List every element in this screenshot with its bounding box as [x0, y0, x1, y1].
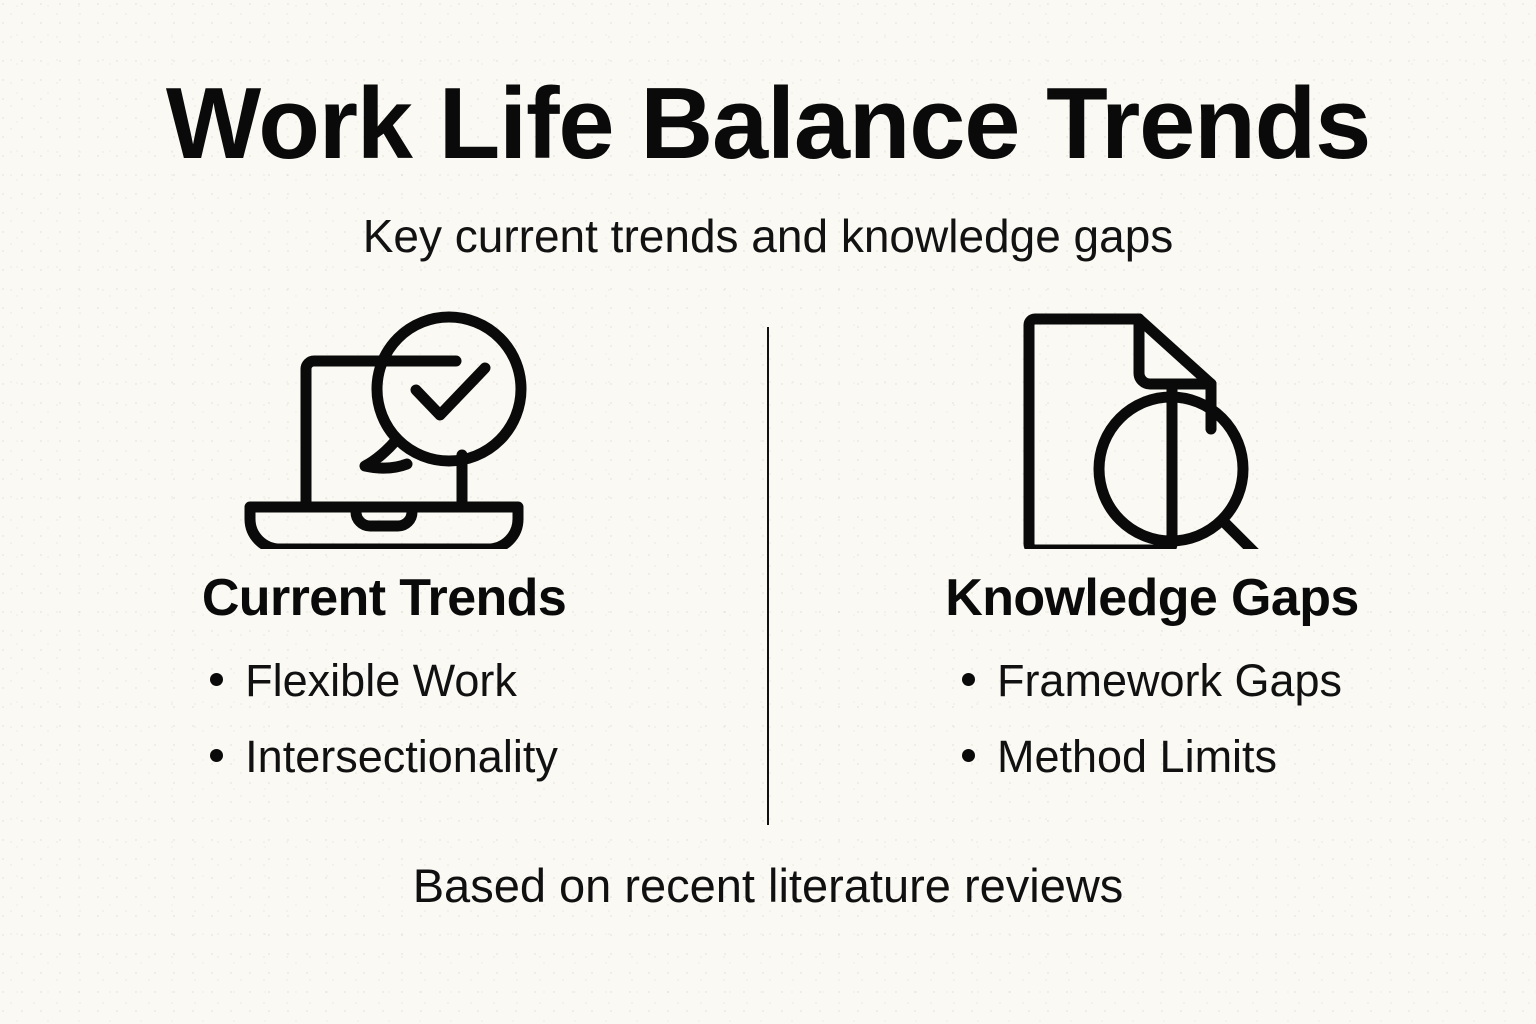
poster-footer: Based on recent literature reviews [0, 862, 1536, 909]
page-subtitle: Key current trends and knowledge gaps [0, 175, 1536, 259]
column-knowledge-gaps: Knowledge Gaps Framework Gaps Method Lim… [768, 310, 1536, 840]
bullet-dot-icon [210, 673, 223, 686]
column-divider [767, 327, 769, 825]
bullet-dot-icon [962, 749, 975, 762]
column-heading-current-trends: Current Trends [202, 550, 566, 624]
list-item-label: Intersectionality [245, 734, 558, 779]
bullet-list-current-trends: Flexible Work Intersectionality [210, 624, 558, 779]
bullet-dot-icon [210, 749, 223, 762]
list-item-label: Framework Gaps [997, 658, 1342, 703]
list-item-label: Method Limits [997, 734, 1277, 779]
document-magnifier-icon [1021, 310, 1283, 550]
list-item: Flexible Work [210, 658, 558, 734]
list-item: Framework Gaps [962, 658, 1342, 734]
list-item: Method Limits [962, 734, 1342, 779]
list-item-label: Flexible Work [245, 658, 517, 703]
page-title: Work Life Balance Trends [0, 74, 1536, 175]
column-heading-knowledge-gaps: Knowledge Gaps [945, 550, 1358, 624]
list-item: Intersectionality [210, 734, 558, 779]
bullet-list-knowledge-gaps: Framework Gaps Method Limits [962, 624, 1342, 779]
bullet-dot-icon [962, 673, 975, 686]
laptop-check-bubble-icon [234, 310, 534, 550]
column-current-trends: Current Trends Flexible Work Intersectio… [0, 310, 768, 840]
infographic-poster: Work Life Balance Trends Key current tre… [0, 0, 1536, 1024]
footer-note: Based on recent literature reviews [0, 862, 1536, 909]
poster-header: Work Life Balance Trends Key current tre… [0, 74, 1536, 259]
